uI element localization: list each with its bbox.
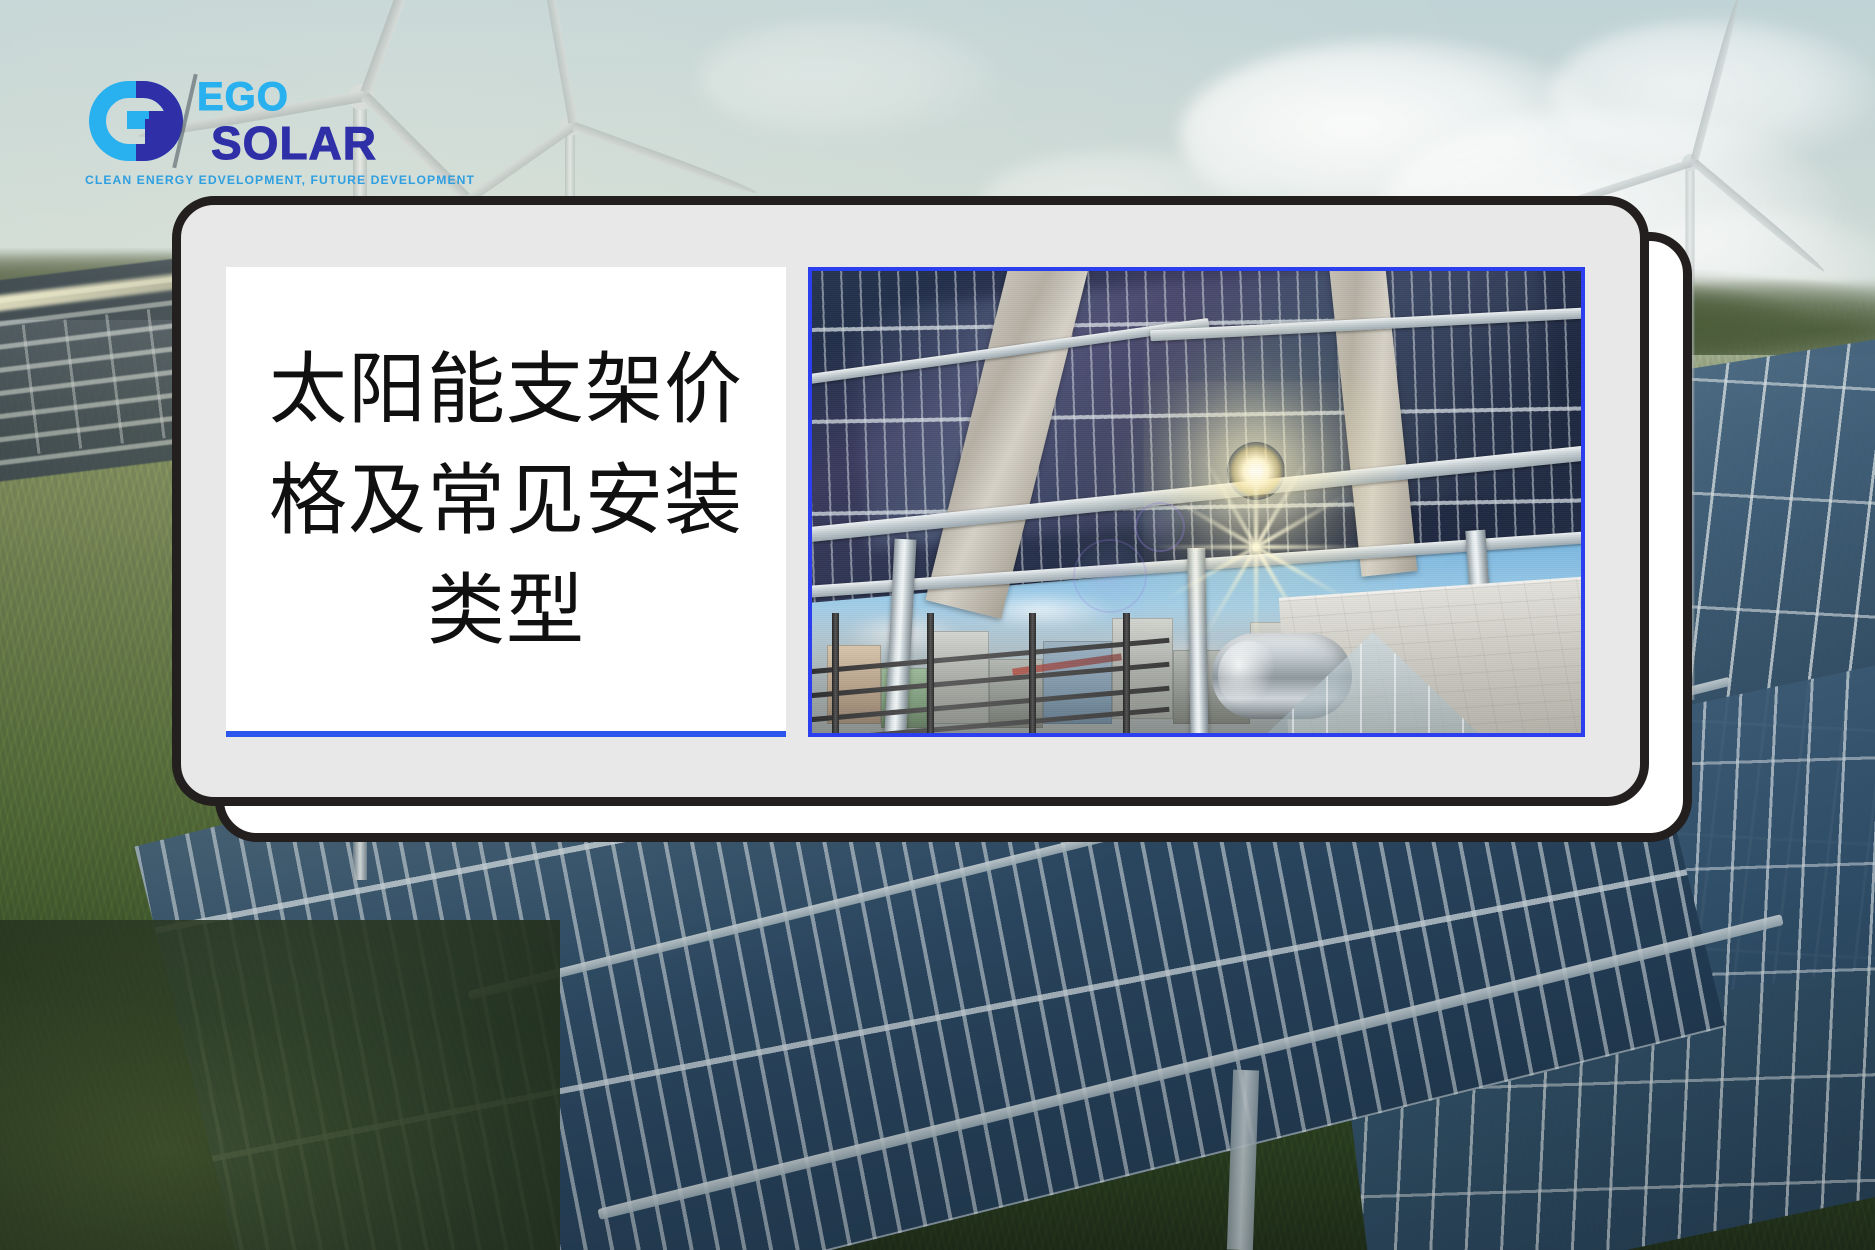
brand-tagline: CLEAN ENERGY EDVELOPMENT, FUTURE DEVELOP… <box>85 173 405 187</box>
poster-canvas: EGO SOLAR CLEAN ENERGY EDVELOPMENT, FUTU… <box>0 0 1875 1250</box>
ego-solar-g-mark-icon <box>85 75 191 167</box>
logo-row: EGO SOLAR <box>85 75 405 167</box>
logo-word-solar: SOLAR <box>211 120 377 166</box>
brand-logo: EGO SOLAR CLEAN ENERGY EDVELOPMENT, FUTU… <box>85 75 405 195</box>
photo-railing-post <box>1123 613 1130 733</box>
title-panel: 太阳能支架价格及常见安装类型 <box>226 267 786 737</box>
logo-wordmark: EGO SOLAR <box>197 77 377 166</box>
photo-railing-post <box>927 613 934 733</box>
photo-railing-post <box>1029 613 1036 733</box>
logo-q-tail <box>145 119 179 153</box>
turbine-blade <box>1691 159 1826 274</box>
page-title: 太阳能支架价格及常见安装类型 <box>252 335 760 667</box>
content-card: 太阳能支架价格及常见安装类型 <box>172 196 1649 806</box>
photo-railing-post <box>832 613 839 733</box>
cloud-shape <box>700 20 1000 140</box>
foreground-grass <box>0 920 560 1250</box>
photo-lens-ghost <box>1073 539 1147 613</box>
rooftop-solar-carport-photo <box>808 267 1585 737</box>
photo-railing <box>812 613 1150 733</box>
logo-word-ego: EGO <box>197 77 377 117</box>
turbine-blade <box>572 122 758 197</box>
photo-lens-ghost <box>1135 502 1185 552</box>
